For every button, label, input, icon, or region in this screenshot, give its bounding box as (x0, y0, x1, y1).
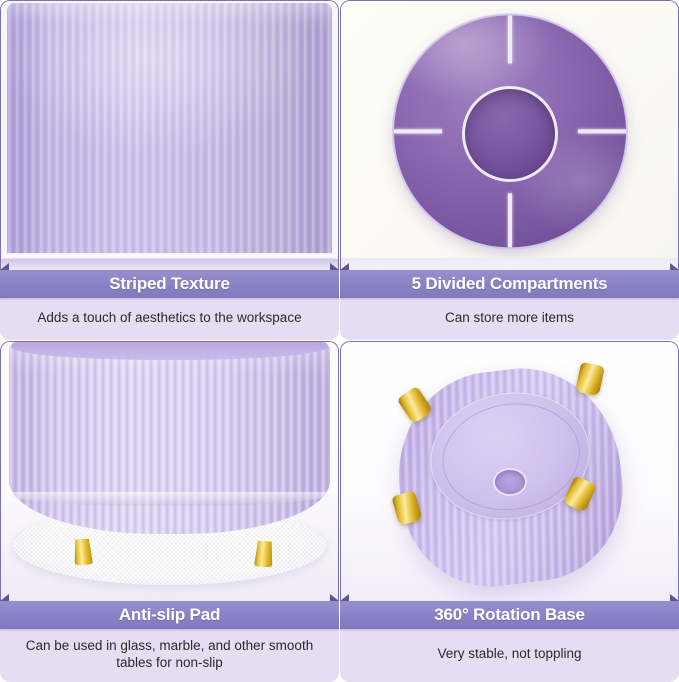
anti-slip-illustration (1, 342, 338, 601)
ribbon-fold-left-icon (0, 263, 9, 270)
feature-card-rotation-base: 360° Rotation Base Very stable, not topp… (340, 341, 679, 682)
product-photo-striped-texture (0, 0, 339, 270)
compartments-illustration (341, 1, 678, 270)
ribbon-fold-left-icon (0, 594, 9, 601)
ribbon-fold-right-icon (330, 594, 339, 601)
feature-caption: Can store more items (445, 310, 574, 326)
feature-card-divided-compartments: 5 Divided Compartments Can store more it… (340, 0, 679, 340)
center-compartment (462, 86, 558, 182)
feature-grid: Striped Texture Adds a touch of aestheti… (0, 0, 679, 681)
drop-shadow (341, 258, 678, 270)
striped-texture-illustration (1, 1, 338, 270)
rotation-base-illustration (341, 342, 678, 601)
divider-right (578, 129, 626, 133)
divider-bottom (508, 193, 512, 247)
feature-title-ribbon: 360° Rotation Base (340, 601, 679, 629)
feature-title: Striped Texture (109, 274, 229, 294)
feature-caption-box: Can store more items (340, 298, 679, 340)
feature-card-anti-slip-pad: Anti-slip Pad Can be used in glass, marb… (0, 341, 339, 682)
feature-title-ribbon: Striped Texture (0, 270, 339, 298)
ribbon-fold-left-icon (340, 263, 349, 270)
ribbon-fold-right-icon (670, 263, 679, 270)
feature-caption: Adds a touch of aesthetics to the worksp… (37, 310, 301, 326)
feature-title: 5 Divided Compartments (412, 274, 608, 294)
feature-caption-box: Adds a touch of aesthetics to the worksp… (0, 298, 339, 340)
feature-caption: Very stable, not toppling (437, 646, 581, 662)
product-photo-divided-compartments (340, 0, 679, 270)
feature-caption-box: Very stable, not toppling (340, 629, 679, 682)
drop-shadow (1, 259, 338, 270)
feature-caption-box: Can be used in glass, marble, and other … (0, 629, 339, 682)
feature-card-striped-texture: Striped Texture Adds a touch of aestheti… (0, 0, 339, 340)
ribbon-fold-left-icon (340, 594, 349, 601)
divider-left (394, 129, 442, 133)
product-photo-anti-slip-pad (0, 341, 339, 601)
feature-title-ribbon: Anti-slip Pad (0, 601, 339, 629)
ribbon-fold-right-icon (330, 263, 339, 270)
ribbon-fold-right-icon (670, 594, 679, 601)
divider-top (508, 15, 512, 63)
feature-caption: Can be used in glass, marble, and other … (10, 638, 329, 671)
surface-highlight-icon (7, 3, 332, 254)
feature-title: Anti-slip Pad (119, 605, 220, 625)
rotation-pivot-icon (495, 470, 525, 494)
feature-title-ribbon: 5 Divided Compartments (340, 270, 679, 298)
product-photo-rotation-base (340, 341, 679, 601)
feature-title: 360° Rotation Base (434, 605, 585, 625)
